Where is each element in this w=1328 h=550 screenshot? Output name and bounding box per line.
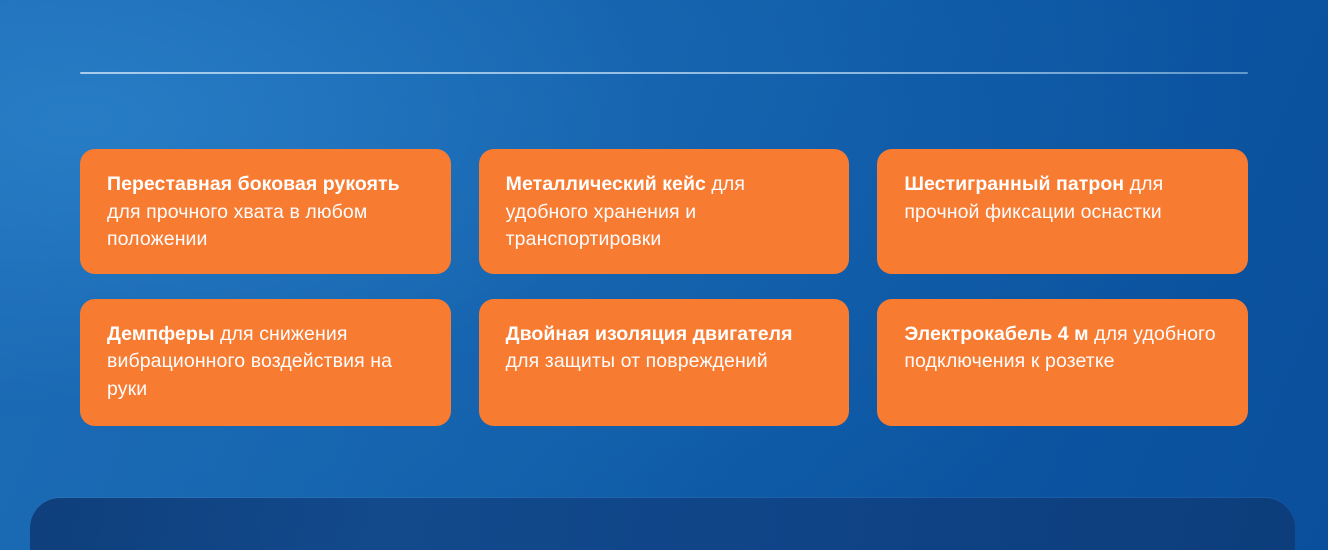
feature-card-text: Демпферы для снижения вибрационного возд…: [107, 321, 427, 404]
feature-card-text: Металлический кейс для удобного хранения…: [506, 171, 826, 254]
feature-card-double-insulation[interactable]: Двойная изоляция двигателя для защиты от…: [479, 299, 850, 426]
feature-card-title: Демпферы: [107, 323, 215, 345]
bottom-navy-panel: [30, 498, 1295, 550]
feature-card-text: Переставная боковая рукоять для прочного…: [107, 171, 427, 254]
feature-card-title: Электрокабель 4 м: [904, 323, 1088, 345]
feature-card-grid: Переставная боковая рукоять для прочного…: [80, 149, 1248, 426]
promo-feature-slide: Переставная боковая рукоять для прочного…: [0, 0, 1328, 550]
feature-card-power-cable[interactable]: Электрокабель 4 м для удобного подключен…: [877, 299, 1248, 426]
feature-card-dampers[interactable]: Демпферы для снижения вибрационного возд…: [80, 299, 451, 426]
feature-card-side-handle[interactable]: Переставная боковая рукоять для прочного…: [80, 149, 451, 274]
feature-card-title: Металлический кейс: [506, 173, 706, 195]
feature-card-description: для прочного хвата в любом положении: [107, 201, 367, 251]
feature-card-title: Переставная боковая рукоять: [107, 173, 400, 195]
feature-card-title: Двойная изоляция двигателя: [506, 323, 793, 345]
feature-card-text: Шестигранный патрон для прочной фиксации…: [904, 171, 1224, 226]
feature-card-text: Двойная изоляция двигателя для защиты от…: [506, 321, 826, 376]
feature-card-text: Электрокабель 4 м для удобного подключен…: [904, 321, 1224, 376]
feature-card-title: Шестигранный патрон: [904, 173, 1124, 195]
feature-card-hex-chuck[interactable]: Шестигранный патрон для прочной фиксации…: [877, 149, 1248, 274]
feature-card-metal-case[interactable]: Металлический кейс для удобного хранения…: [479, 149, 850, 274]
feature-card-description: для защиты от повреждений: [506, 350, 768, 372]
top-divider-rule: [80, 72, 1248, 74]
